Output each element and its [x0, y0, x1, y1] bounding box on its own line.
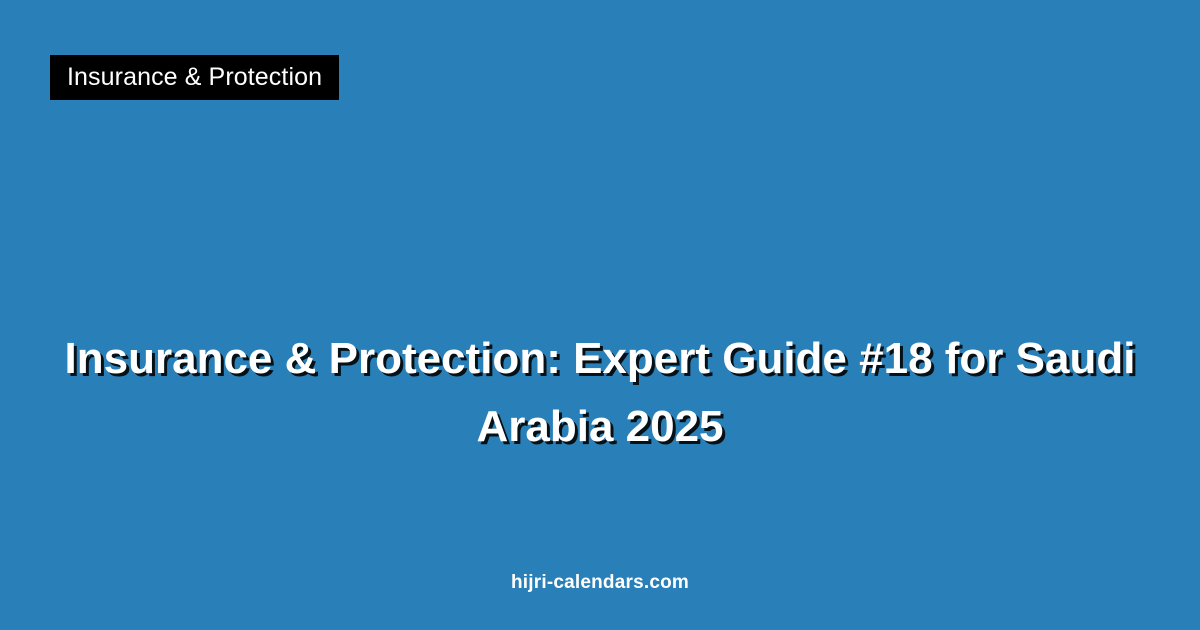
category-badge-label: Insurance & Protection	[67, 65, 322, 90]
og-image-card: Insurance & Protection Insurance & Prote…	[0, 0, 1200, 630]
category-badge: Insurance & Protection	[50, 55, 339, 100]
site-footer: hijri-calendars.com	[0, 570, 1200, 596]
page-title: Insurance & Protection: Expert Guide #18…	[0, 325, 1200, 461]
site-domain-label: hijri-calendars.com	[511, 572, 689, 593]
